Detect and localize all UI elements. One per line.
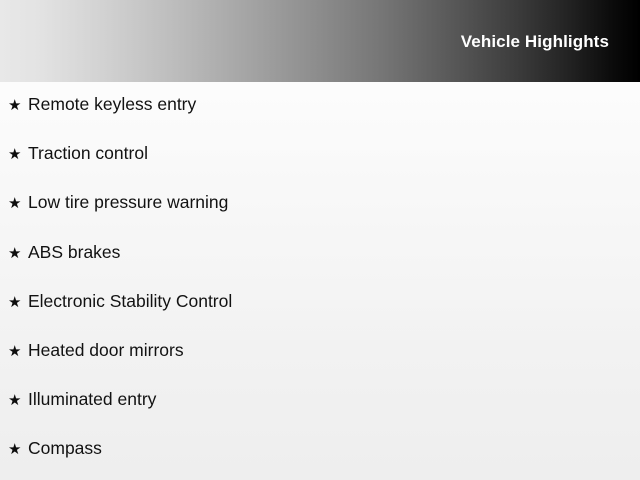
page-title: Vehicle Highlights <box>461 33 609 50</box>
list-item: ★ ABS brakes <box>0 244 640 293</box>
star-icon: ★ <box>8 246 28 261</box>
star-icon: ★ <box>8 393 28 408</box>
list-item: ★ Traction control <box>0 145 640 194</box>
header-band: Vehicle Highlights <box>0 0 640 82</box>
list-item: ★ Low tire pressure warning <box>0 194 640 243</box>
list-item-label: Illuminated entry <box>28 391 156 409</box>
list-item: ★ Compass <box>0 440 640 480</box>
vehicle-highlights-slide: Vehicle Highlights ★ Remote keyless entr… <box>0 0 640 480</box>
list-item: ★ Illuminated entry <box>0 391 640 440</box>
star-icon: ★ <box>8 295 28 310</box>
star-icon: ★ <box>8 442 28 457</box>
star-icon: ★ <box>8 147 28 162</box>
list-item-label: Traction control <box>28 145 148 163</box>
star-icon: ★ <box>8 196 28 211</box>
list-item-label: Electronic Stability Control <box>28 293 232 311</box>
star-icon: ★ <box>8 344 28 359</box>
list-item: ★ Remote keyless entry <box>0 82 640 145</box>
list-item: ★ Heated door mirrors <box>0 342 640 391</box>
list-item-label: Compass <box>28 440 102 458</box>
list-item: ★ Electronic Stability Control <box>0 293 640 342</box>
list-item-label: Low tire pressure warning <box>28 194 228 212</box>
vehicle-highlights-list: ★ Remote keyless entry ★ Traction contro… <box>0 82 640 480</box>
list-item-label: ABS brakes <box>28 244 120 262</box>
list-item-label: Remote keyless entry <box>28 96 196 114</box>
star-icon: ★ <box>8 98 28 113</box>
list-item-label: Heated door mirrors <box>28 342 184 360</box>
